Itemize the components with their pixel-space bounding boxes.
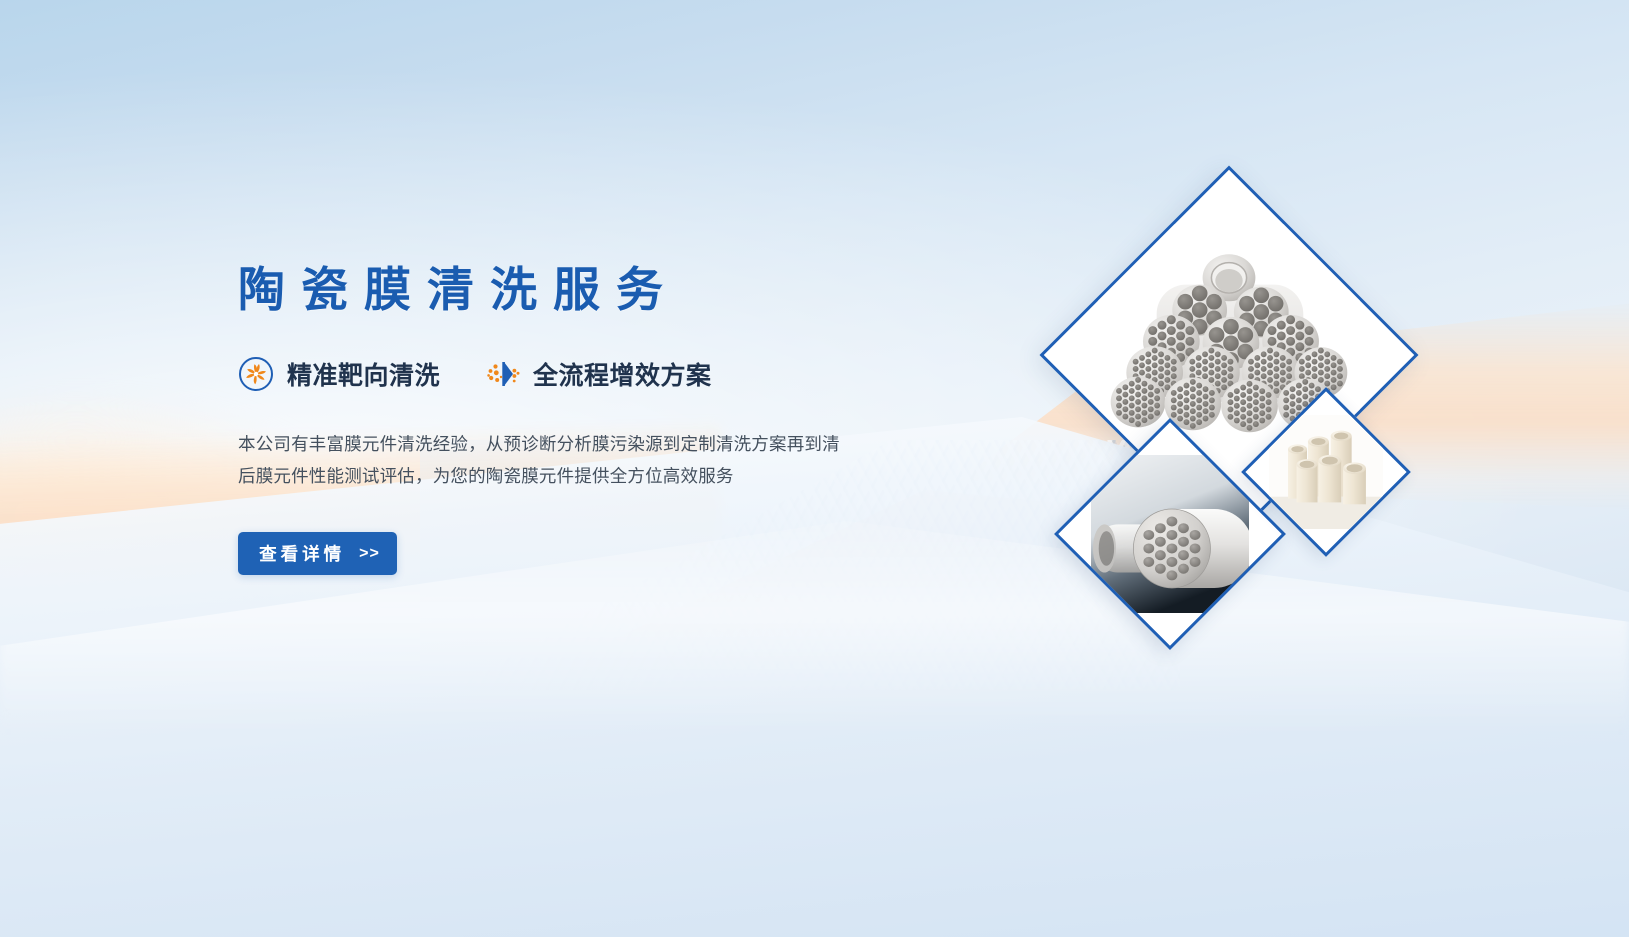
membrane-closeup-photo: [1091, 455, 1249, 613]
chevron-right-double-icon: >>: [359, 545, 380, 563]
description-line-2: 后膜元件性能测试评估，为您的陶瓷膜元件提供全方位高效服务: [238, 466, 734, 486]
feature-item-label: 全流程增效方案: [533, 356, 712, 392]
hero-description: 本公司有丰富膜元件清洗经验，从预诊断分析膜污染源到定制清洗方案再到清 后膜元件性…: [238, 428, 898, 492]
pinwheel-circle-icon: [238, 356, 274, 392]
flow-dots-icon: [484, 356, 520, 392]
membrane-tubes-photo: [1269, 415, 1383, 529]
page-title: 陶瓷膜清洗服务: [238, 262, 938, 318]
description-line-1: 本公司有丰富膜元件清洗经验，从预诊断分析膜污染源到定制清洗方案再到清: [238, 434, 840, 454]
feature-item-label: 精准靶向清洗: [287, 356, 440, 392]
view-details-button-label: 查看详情: [255, 541, 345, 566]
view-details-button[interactable]: 查看详情 >>: [238, 532, 397, 575]
feature-list: 精准靶向清洗: [238, 356, 938, 392]
feature-item-full-process-plan: 全流程增效方案: [484, 356, 712, 392]
hero-banner: 陶瓷膜清洗服务: [0, 0, 1629, 937]
feature-item-targeted-cleaning: 精准靶向清洗: [238, 356, 440, 392]
hero-content: 陶瓷膜清洗服务: [238, 262, 938, 575]
